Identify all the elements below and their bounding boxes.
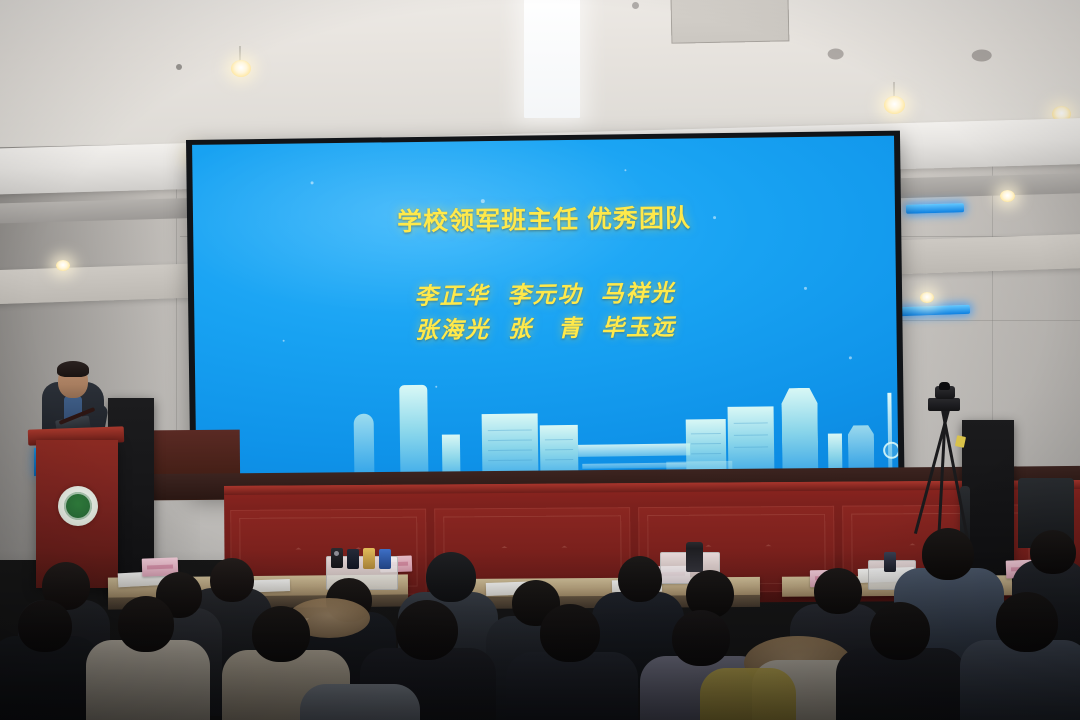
led-strip <box>906 203 964 214</box>
ceiling-spotlight <box>884 96 905 114</box>
person-head <box>922 528 974 580</box>
ceiling-sensor <box>972 49 992 61</box>
person-body <box>960 640 1080 720</box>
thermos-cup <box>686 542 703 572</box>
slide-name-list: 李正华 李元功 马祥光 张海光 张 青 毕玉远 <box>194 274 897 351</box>
ceiling-light-panel <box>524 0 580 118</box>
person-head <box>540 604 600 662</box>
person-head <box>426 552 476 602</box>
name-zhang-haiguang: 张海光 <box>415 316 490 344</box>
skyline-skybridge <box>578 443 690 456</box>
name-ma-xiangguang: 马祥光 <box>600 280 675 308</box>
ceiling-fitting <box>176 64 182 70</box>
school-crest-emblem <box>58 486 98 526</box>
person-body <box>300 684 420 720</box>
camera-lens <box>939 382 950 390</box>
presenter-hair <box>57 361 89 377</box>
screen-speck <box>624 169 626 171</box>
person-body <box>506 652 638 720</box>
phone <box>347 549 359 569</box>
person-head <box>814 568 862 614</box>
person-head <box>672 610 730 666</box>
person-head <box>210 558 254 602</box>
person-body-coat <box>700 668 796 720</box>
skyline-spire-ring <box>883 442 899 459</box>
phone-camera-lens <box>334 551 339 556</box>
recessed-downlight <box>920 292 934 303</box>
phone <box>363 548 375 569</box>
person-head <box>618 556 662 602</box>
led-display-screen[interactable]: 学校领军班主任 优秀团队 李正华 李元功 马祥光 张海光 张 青 毕玉远 <box>186 131 905 496</box>
name-bi-yuyuan: 毕玉远 <box>601 314 676 342</box>
person-head <box>1030 530 1076 574</box>
person-head <box>396 600 458 660</box>
ceiling-sensor <box>828 48 844 59</box>
person-head <box>18 600 72 652</box>
person-head <box>996 592 1058 652</box>
tripod-head <box>928 398 960 411</box>
phone <box>379 549 391 569</box>
recessed-downlight <box>56 260 70 271</box>
person-head <box>252 606 310 662</box>
person-head <box>870 602 930 660</box>
presenter-head <box>58 364 88 398</box>
recessed-downlight <box>1000 190 1015 202</box>
screen-speck <box>311 181 314 184</box>
name-li-yuangong: 李元功 <box>507 281 582 309</box>
auditorium-photo: 学校领军班主任 优秀团队 李正华 李元功 马祥光 张海光 张 青 毕玉远 <box>0 0 1080 720</box>
name-zhang-qing: 张 青 <box>508 315 583 343</box>
person-body-coat <box>86 640 210 720</box>
person-head <box>118 596 174 652</box>
ceiling-fitting <box>632 2 639 9</box>
phone <box>884 552 896 572</box>
ceiling-spotlight <box>231 60 251 77</box>
screen-content: 学校领军班主任 优秀团队 李正华 李元功 马祥光 张海光 张 青 毕玉远 <box>192 136 898 492</box>
ceiling-access-panel <box>670 0 789 44</box>
slide-title: 学校领军班主任 优秀团队 <box>193 196 895 241</box>
name-li-zhenghua: 李正华 <box>414 282 489 310</box>
